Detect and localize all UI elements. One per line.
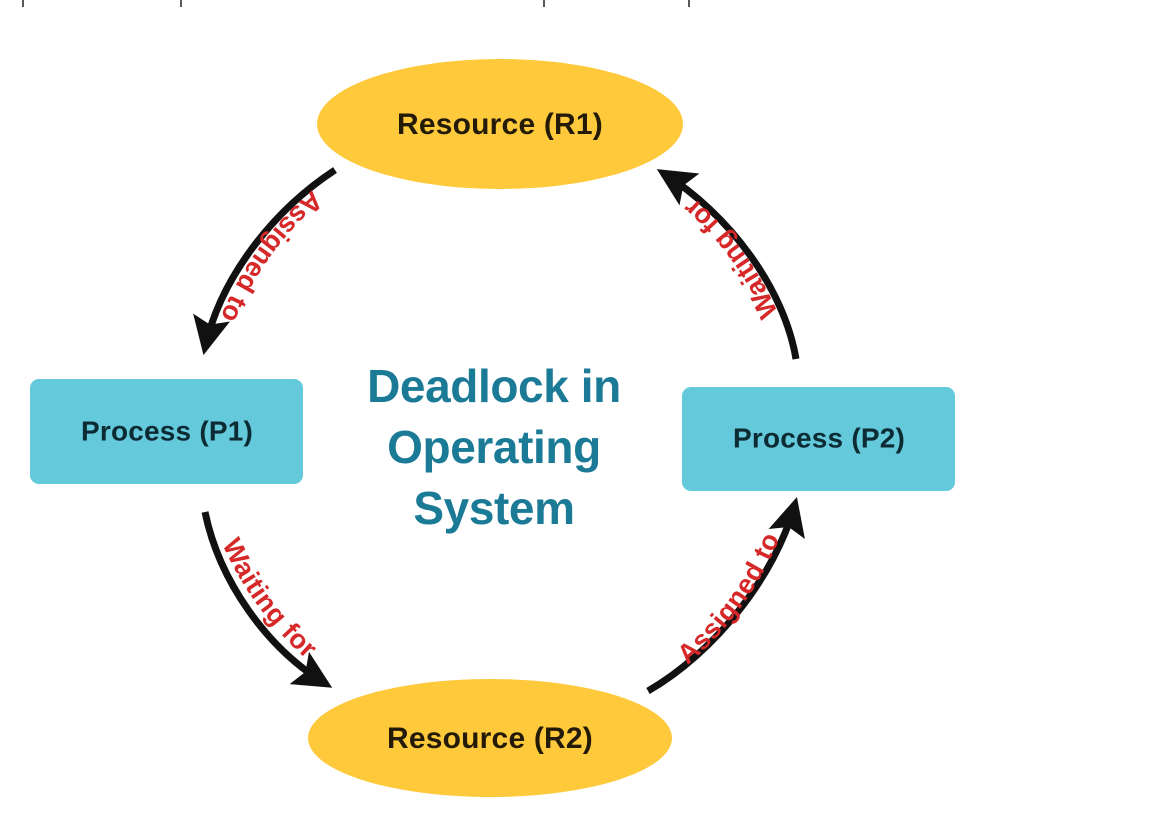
edge-p1-to-r2: Waiting for — [205, 512, 326, 684]
resource-r2-label: Resource (R2) — [387, 722, 593, 755]
node-resource-r1[interactable]: Resource (R1) — [317, 59, 683, 189]
process-p2-label: Process (P2) — [733, 422, 905, 453]
node-process-p2[interactable]: Process (P2) — [682, 387, 955, 491]
deadlock-cycle-diagram: Assigned to Waiting for Assigned to Wait… — [0, 0, 1159, 825]
edge-label-waiting-for-p1-r2: Waiting for — [217, 533, 323, 664]
node-resource-r2[interactable]: Resource (R2) — [308, 679, 672, 797]
edge-p2-to-r1: Waiting for — [663, 173, 796, 359]
edge-r1-to-p1: Assigned to — [205, 170, 335, 348]
node-process-p1[interactable]: Process (P1) — [30, 379, 303, 484]
edge-label-waiting-for-p2-r1: Waiting for — [677, 193, 783, 324]
resource-r1-label: Resource (R1) — [397, 108, 603, 141]
edge-label-assigned-to-r2-p2: Assigned to — [671, 528, 785, 670]
center-title: Deadlock in Operating System — [367, 360, 621, 534]
process-p1-label: Process (P1) — [81, 415, 253, 446]
edge-label-assigned-to-r1-p1: Assigned to — [215, 185, 329, 327]
center-title-line-3: System — [413, 482, 574, 534]
center-title-line-1: Deadlock in — [367, 360, 621, 412]
edge-r2-to-p2: Assigned to — [648, 504, 795, 691]
center-title-line-2: Operating — [387, 421, 601, 473]
diagram-canvas: Assigned to Waiting for Assigned to Wait… — [0, 0, 1159, 825]
